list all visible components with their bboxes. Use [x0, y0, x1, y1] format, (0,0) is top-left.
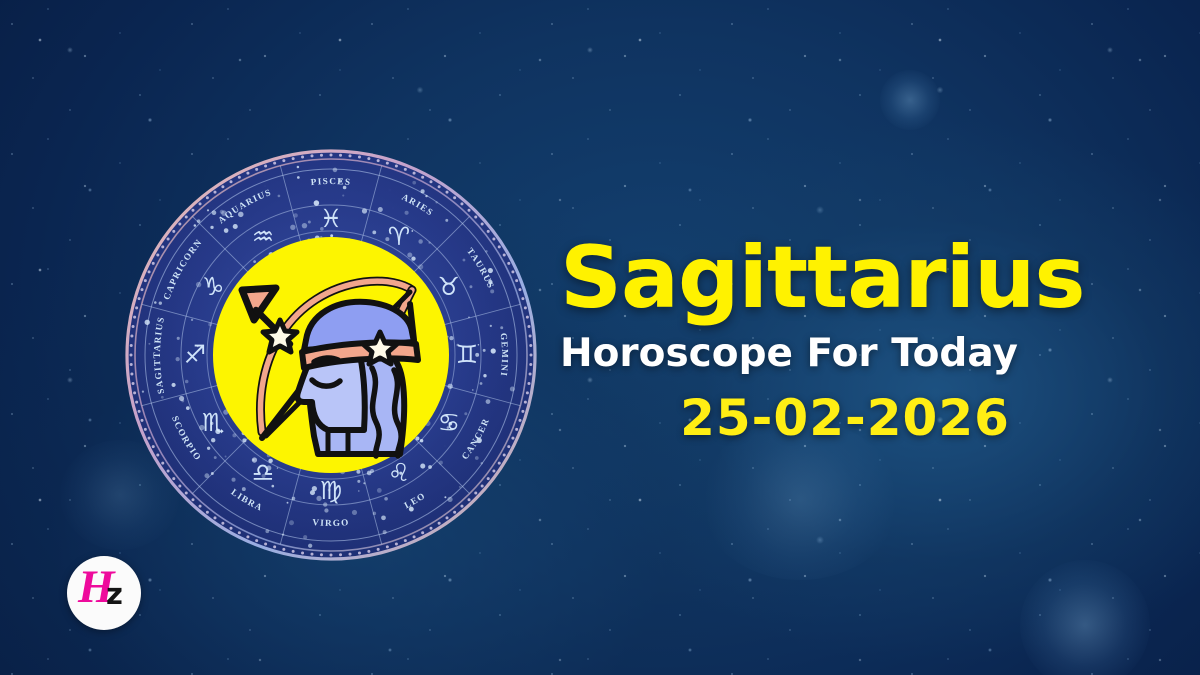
zodiac-label-gemini: GEMINI — [499, 332, 510, 377]
sagittarius-archer-icon — [214, 240, 446, 472]
brand-logo[interactable]: H z — [67, 556, 141, 630]
headline-block: Sagittarius Horoscope For Today 25-02-20… — [560, 236, 1170, 446]
zodiac-glyph-virgo: ♍ — [320, 476, 342, 505]
poster-canvas: PISCESARIESTAURUSGEMINICANCERLEOVIRGOLIB… — [0, 0, 1200, 675]
zodiac-label-pisces: PISCES — [310, 176, 352, 187]
zodiac-label-virgo: VIRGO — [312, 517, 350, 528]
zodiac-glyph-sagittarius: ♐ — [184, 340, 206, 369]
horoscope-date: 25-02-2026 — [560, 391, 1170, 446]
page-subtitle: Horoscope For Today — [560, 332, 1170, 377]
star-glow — [880, 70, 940, 130]
star-glow — [1020, 560, 1150, 675]
zodiac-glyph-gemini: ♊ — [456, 340, 478, 369]
logo-letter-z: z — [106, 580, 123, 609]
zodiac-glyph-pisces: ♓ — [320, 204, 342, 233]
page-title: Sagittarius — [560, 236, 1170, 320]
